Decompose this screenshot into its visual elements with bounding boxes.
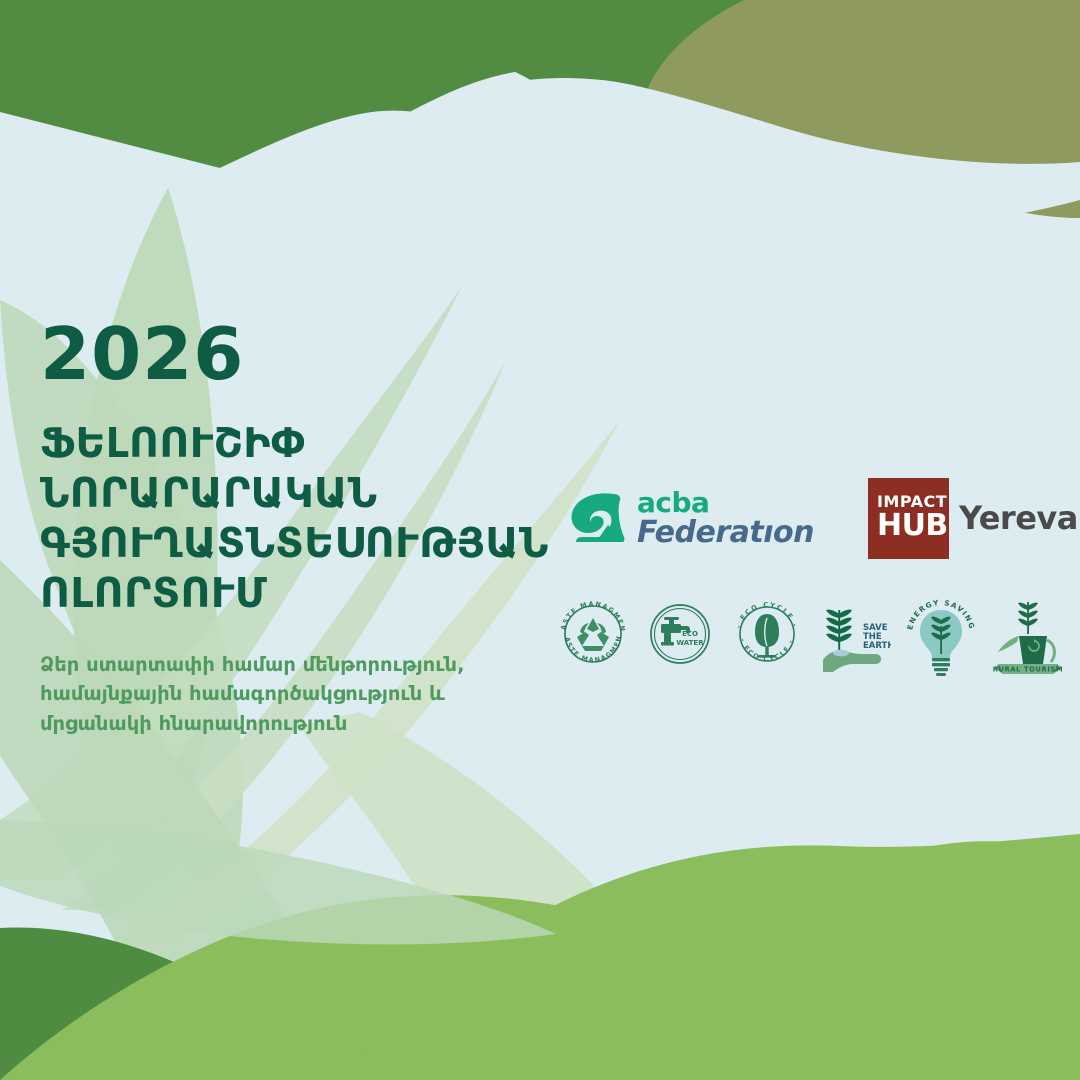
badge-save-the-earth: SAVE THE EARTH [817, 588, 891, 680]
tree-icon: - ECO CYCLE - - ECO CYCLE - [730, 588, 804, 680]
federation-word: Federatıon [637, 518, 814, 548]
lightbulb-plant-icon: ENERGY SAVING [904, 588, 978, 680]
headline-line-3: ԳՅՈՒՂԱՏՆՏԵՍՈՒԹՅԱՆ [40, 518, 600, 568]
acba-swoosh-icon [570, 492, 628, 544]
svg-text:WATER: WATER [676, 639, 704, 647]
subtitle-line-3: մրցանակի հնարավորություն [40, 709, 600, 738]
subtitle: Ձեր ստարտափի համար մենթորություն, համայն… [40, 650, 600, 738]
hub-word: HUB [877, 510, 948, 542]
acba-word: acba [637, 489, 814, 517]
page-title: ՖԵԼՈՈՒՇԻՓ ՆՈՐԱՐԱՐԱԿԱՆ ԳՅՈՒՂԱՏՆՏԵՍՈՒԹՅԱՆ … [40, 418, 600, 618]
badge-eco-cycle: - ECO CYCLE - - ECO CYCLE - [730, 588, 804, 680]
eco-badge-row: WASTE MANAGMENT WASTE MANAGMENT [556, 586, 1056, 682]
headline-line-1: ՖԵԼՈՈՒՇԻՓ [40, 418, 600, 468]
impact-hub-mark: IMPACT HUB [868, 478, 949, 559]
subtitle-line-1: Ձեր ստարտափի համար մենթորություն, [40, 650, 600, 679]
svg-text:RURAL TOURISM: RURAL TOURISM [993, 666, 1064, 674]
badge-rural-tourism: RURAL TOURISM [991, 588, 1065, 680]
subtitle-line-2: համայնքային համագործակցություն և [40, 679, 600, 708]
svg-text:ECO: ECO [682, 630, 698, 638]
headline-line-2: ՆՈՐԱՐԱՐԱԿԱՆ [40, 468, 600, 518]
badge-eco-water: ECO WATER [643, 588, 717, 680]
watering-can-plant-icon: RURAL TOURISM [991, 588, 1065, 680]
yerevan-word: Yerevan [959, 499, 1080, 537]
headline-line-4: ՈԼՈՐՏՈՒՄ [40, 568, 600, 618]
badge-waste-managment: WASTE MANAGMENT WASTE MANAGMENT [556, 588, 630, 680]
badge-energy-saving: ENERGY SAVING [904, 588, 978, 680]
hand-with-plant-icon: SAVE THE EARTH [817, 588, 891, 680]
year-heading: 2026 [40, 318, 600, 390]
faucet-icon: ECO WATER [643, 588, 717, 680]
poster-canvas: 2026 ՖԵԼՈՈՒՇԻՓ ՆՈՐԱՐԱՐԱԿԱՆ ԳՅՈՒՂԱՏՆՏԵՍՈՒ… [0, 0, 1080, 1080]
acba-wordmark: acba Federatıon [637, 489, 814, 548]
partner-logo-row: acba Federatıon IMPACT HUB Yerevan [570, 482, 1050, 554]
recycle-icon: WASTE MANAGMENT WASTE MANAGMENT [556, 588, 630, 680]
impact-hub-yerevan-logo: IMPACT HUB Yerevan [868, 478, 1080, 559]
acba-federation-logo: acba Federatıon [570, 489, 814, 548]
svg-text:EARTH: EARTH [863, 641, 891, 651]
text-block: 2026 ՖԵԼՈՈՒՇԻՓ ՆՈՐԱՐԱՐԱԿԱՆ ԳՅՈՒՂԱՏՆՏԵՍՈՒ… [40, 318, 600, 738]
